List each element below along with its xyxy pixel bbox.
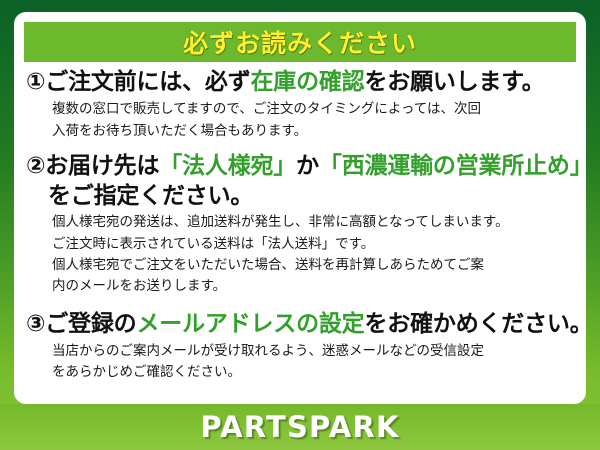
- notice-item-2-emphasis-1: 「法人様宛」: [159, 153, 296, 179]
- notice-item-2-subline-4: 内のメールをお送りします。: [52, 276, 578, 297]
- notice-item-3-emphasis: メールアドレスの設定: [136, 311, 364, 337]
- brand-name: PARTSPARK: [200, 410, 399, 444]
- notice-item-2-emphasis-2: 「西濃運輸の営業所止め」: [319, 153, 593, 179]
- notice-item-2-text-b: か: [296, 153, 319, 179]
- notice-item-1-subline-1: 複数の窓口で販売してますので、ご注文のタイミングによっては、次回: [52, 99, 578, 120]
- notice-item-2-headline: ②お届け先は「法人様宛」か「西濃運輸の営業所止め」: [26, 152, 578, 181]
- notice-item-3-headline: ③ご登録のメールアドレスの設定をお確かめください。: [26, 310, 578, 339]
- notice-item-1-text-b: をお願いします。: [365, 69, 545, 95]
- notice-item-3-text-b: をお確かめください。: [365, 311, 593, 337]
- notice-item-list: ①ご注文前には、必ず在庫の確認をお願いします。 複数の窓口で販売してますので、ご…: [14, 68, 586, 386]
- notice-item-1-subline-2: 入荷をお待ち頂いただく場合もあります。: [52, 121, 578, 142]
- notice-banner-image: 必ずお読みください ①ご注文前には、必ず在庫の確認をお願いします。 複数の窓口で…: [0, 0, 600, 450]
- notice-item-2-subline-3: 個人様宅宛でご注文をいただいた場合、送料を再計算しあらためてご案: [52, 255, 578, 276]
- notice-item-2: ②お届け先は「法人様宛」か「西濃運輸の営業所止め」 をご指定ください。 個人様宅…: [26, 152, 578, 298]
- notice-item-2-text-a: お届け先は: [45, 153, 159, 179]
- notice-item-3: ③ご登録のメールアドレスの設定をお確かめください。 当店からのご案内メールが受け…: [26, 310, 578, 384]
- notice-item-1-emphasis: 在庫の確認: [250, 69, 364, 95]
- notice-item-2-headline-continuation: をご指定ください。: [26, 182, 578, 211]
- notice-item-2-subline-1: 個人様宅宛の発送は、追加送料が発生し、非常に高額となってしまいます。: [52, 212, 578, 233]
- footer-brand-bar: PARTSPARK: [0, 404, 600, 450]
- notice-item-2-marker: ②: [26, 153, 45, 179]
- notice-item-3-text-a: ご登録の: [45, 311, 136, 337]
- notice-item-3-subline-2: をあらかじめご確認ください。: [52, 362, 578, 383]
- notice-item-1-marker: ①: [26, 69, 45, 95]
- notice-item-2-subtext: 個人様宅宛の発送は、追加送料が発生し、非常に高額となってしまいます。 ご注文時に…: [26, 212, 578, 297]
- notice-item-3-marker: ③: [26, 311, 45, 337]
- header-banner: 必ずお読みください: [24, 22, 576, 62]
- notice-item-1-text-a: ご注文前には、必ず: [45, 69, 250, 95]
- notice-item-2-subline-2: ご注文時に表示されている送料は「法人送料」です。: [52, 234, 578, 255]
- notice-item-1-headline: ①ご注文前には、必ず在庫の確認をお願いします。: [26, 68, 578, 97]
- notice-item-1-subtext: 複数の窓口で販売してますので、ご注文のタイミングによっては、次回 入荷をお待ち頂…: [26, 99, 578, 142]
- notice-item-3-subline-1: 当店からのご案内メールが受け取れるよう、迷惑メールなどの受信設定: [52, 341, 578, 362]
- header-banner-title: 必ずお読みください: [183, 24, 417, 60]
- white-content-panel: 必ずお読みください ①ご注文前には、必ず在庫の確認をお願いします。 複数の窓口で…: [14, 12, 586, 404]
- notice-item-3-subtext: 当店からのご案内メールが受け取れるよう、迷惑メールなどの受信設定 をあらかじめご…: [26, 341, 578, 384]
- notice-item-1: ①ご注文前には、必ず在庫の確認をお願いします。 複数の窓口で販売してますので、ご…: [26, 68, 578, 142]
